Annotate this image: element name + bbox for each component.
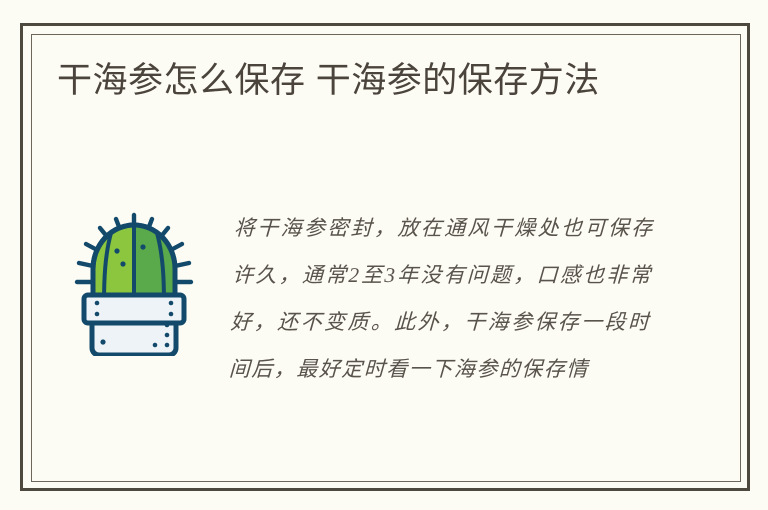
article-page: 干海参怎么保存 干海参的保存方法 (0, 0, 768, 510)
article-body-text: 将干海参密封，放在通风干燥处也可保存许久，通常2至3年没有问题，口感也非常好，还… (225, 205, 654, 470)
page-content: 干海参怎么保存 干海参的保存方法 (0, 0, 768, 510)
page-title: 干海参怎么保存 干海参的保存方法 (57, 56, 657, 106)
cactus-in-pot-icon (73, 211, 195, 356)
article-body-row: 将干海参密封，放在通风干燥处也可保存许久，通常2至3年没有问题，口感也非常好，还… (57, 205, 717, 475)
